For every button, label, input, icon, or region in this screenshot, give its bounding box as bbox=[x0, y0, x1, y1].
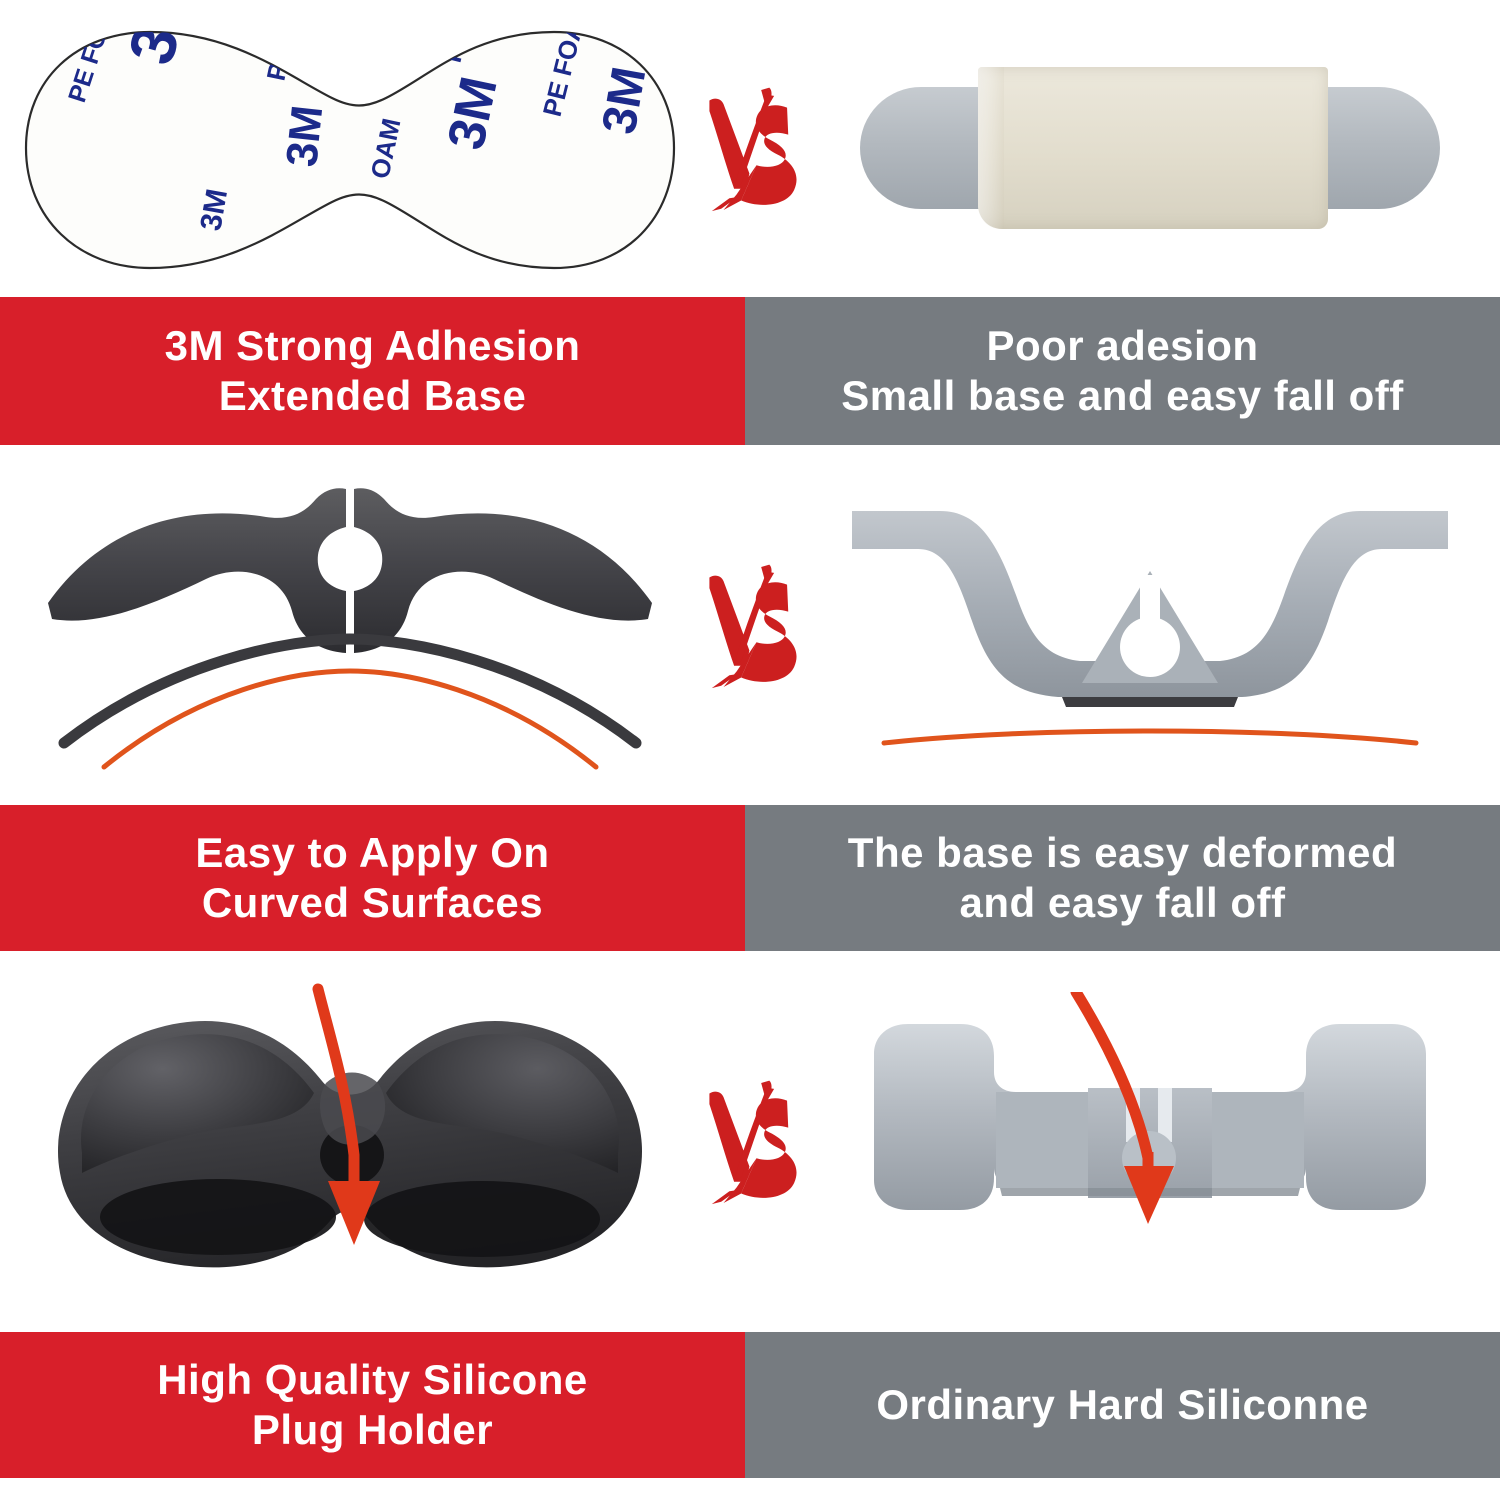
panel-rigid-gray-holder bbox=[800, 445, 1500, 805]
caption-row-curved-surface: Easy to Apply On Curved Surfaces The bas… bbox=[0, 805, 1500, 951]
caption-3m-strong-adhesion: 3M Strong Adhesion Extended Base bbox=[0, 297, 745, 445]
adhesive-pad-shape: 3M PE FOAM 3M 3M PE FOAM 3M 3M OAM PE F … bbox=[20, 24, 680, 274]
caption-line: 3M Strong Adhesion bbox=[165, 321, 581, 371]
comparison-infographic: 3M PE FOAM 3M 3M PE FOAM 3M 3M OAM PE F … bbox=[0, 0, 1500, 1489]
vs-brush-mark bbox=[700, 1034, 800, 1249]
svg-text:3M: 3M bbox=[277, 103, 332, 169]
caption-line: Poor adesion bbox=[986, 321, 1258, 371]
caption-line: High Quality Silicone bbox=[157, 1355, 588, 1405]
3m-adhesive-pad-graphic: 3M PE FOAM 3M 3M PE FOAM 3M 3M OAM PE F … bbox=[20, 24, 680, 274]
panel-ordinary-small-base bbox=[800, 0, 1500, 297]
svg-text:3M: 3M bbox=[20, 76, 26, 142]
caption-ordinary-hard-silicone: Ordinary Hard Siliconne bbox=[745, 1332, 1500, 1478]
panel-3m-adhesive-pad: 3M PE FOAM 3M 3M PE FOAM 3M 3M OAM PE F … bbox=[0, 0, 700, 297]
vs-divider-row-1 bbox=[700, 0, 800, 297]
caption-line: Plug Holder bbox=[252, 1405, 493, 1455]
caption-line: The base is easy deformed bbox=[848, 828, 1397, 878]
caption-row-material: High Quality Silicone Plug Holder Ordina… bbox=[0, 1332, 1500, 1478]
product-row-material-images bbox=[0, 951, 1500, 1332]
caption-base-easy-deformed: The base is easy deformed and easy fall … bbox=[745, 805, 1500, 951]
caption-row-adhesion: 3M Strong Adhesion Extended Base Poor ad… bbox=[0, 297, 1500, 445]
caption-high-quality-silicone: High Quality Silicone Plug Holder bbox=[0, 1332, 745, 1478]
caption-line: Ordinary Hard Siliconne bbox=[876, 1380, 1368, 1430]
high-quality-silicone-plug-holder-graphic bbox=[30, 977, 670, 1307]
caption-line: and easy fall off bbox=[960, 878, 1286, 928]
caption-line: Easy to Apply On bbox=[195, 828, 549, 878]
vs-brush-mark bbox=[700, 518, 800, 733]
vs-divider-row-2 bbox=[700, 445, 800, 805]
vs-brush-mark bbox=[700, 41, 800, 256]
caption-poor-adhesion: Poor adesion Small base and easy fall of… bbox=[745, 297, 1500, 445]
ordinary-small-adhesive-base-graphic bbox=[860, 59, 1440, 239]
panel-ordinary-hard-bracket bbox=[800, 951, 1500, 1332]
panel-flexible-black-holder bbox=[0, 445, 700, 805]
caption-line: Extended Base bbox=[219, 371, 527, 421]
caption-line: Curved Surfaces bbox=[202, 878, 543, 928]
rigid-gray-plastic-holder-graphic bbox=[830, 475, 1470, 775]
small-adhesive-patch bbox=[978, 67, 1328, 229]
vs-divider-row-3 bbox=[700, 951, 800, 1332]
svg-text:3M: 3M bbox=[343, 24, 391, 69]
flexible-black-silicone-holder-graphic bbox=[30, 475, 670, 775]
ordinary-hard-silicone-bracket-graphic bbox=[840, 992, 1460, 1292]
product-row-adhesion-images: 3M PE FOAM 3M 3M PE FOAM 3M 3M OAM PE F … bbox=[0, 0, 1500, 297]
product-row-curved-surface-images bbox=[0, 445, 1500, 805]
caption-line: Small base and easy fall off bbox=[841, 371, 1404, 421]
svg-text:PE FOAM: PE FOAM bbox=[261, 24, 315, 83]
caption-easy-to-apply-curved: Easy to Apply On Curved Surfaces bbox=[0, 805, 745, 951]
panel-silicone-plug-holder bbox=[0, 951, 700, 1332]
